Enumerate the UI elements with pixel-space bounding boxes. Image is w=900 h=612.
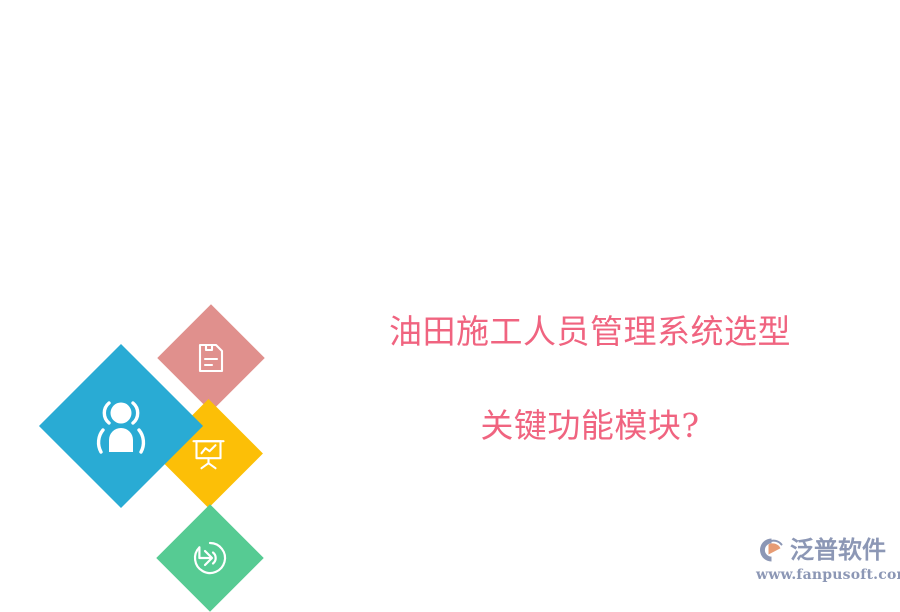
diamond-tile-speed xyxy=(156,504,263,611)
slide-canvas: 油田施工人员管理系统选型 关键功能模块? 泛普软件 www.fanpusoft.… xyxy=(0,0,900,600)
presentation-chart-icon xyxy=(191,437,227,471)
brand-logo[interactable]: 泛普软件 www.fanpusoft.com xyxy=(756,534,888,588)
fanpu-logo-icon xyxy=(756,535,786,565)
diamond-icon-cluster xyxy=(20,150,320,490)
brand-name: 泛普软件 xyxy=(790,535,886,565)
speed-gauge-icon xyxy=(192,540,228,576)
brand-url: www.fanpusoft.com xyxy=(756,566,888,584)
document-icon xyxy=(194,341,228,375)
page-title: 油田施工人员管理系统选型 关键功能模块? xyxy=(335,262,845,496)
brand-logo-row: 泛普软件 xyxy=(756,534,888,566)
page-title-line-1: 油田施工人员管理系统选型 xyxy=(335,309,845,356)
page-title-line-2: 关键功能模块? xyxy=(335,403,845,450)
people-group-icon xyxy=(87,396,155,456)
